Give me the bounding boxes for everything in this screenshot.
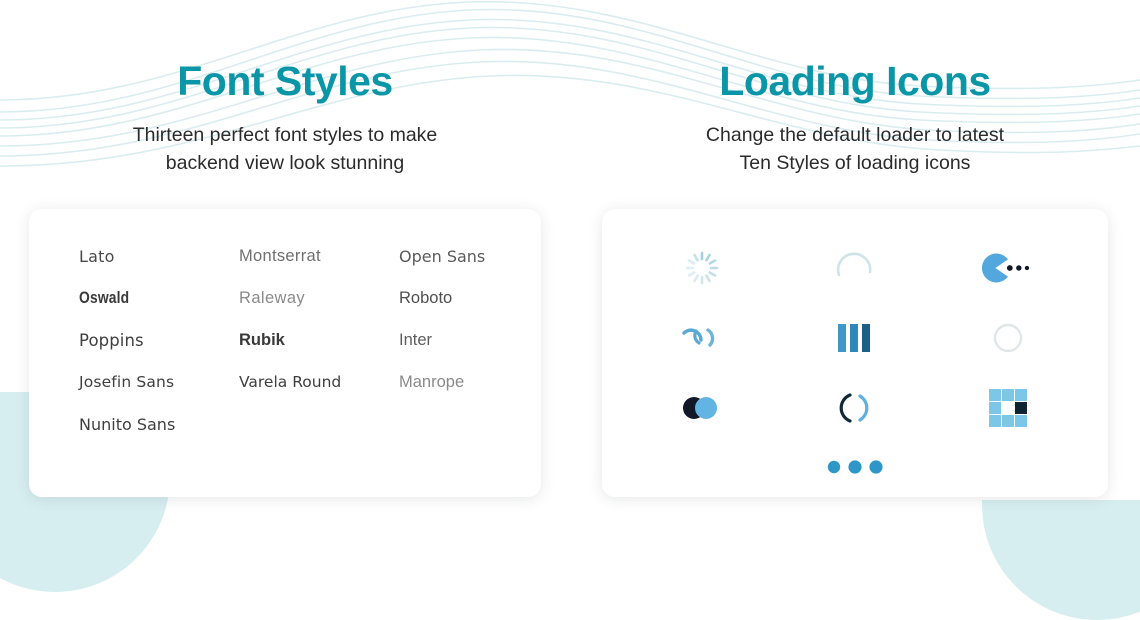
loader-option-8[interactable] xyxy=(827,380,883,436)
font-styles-subtitle: Thirteen perfect font styles to make bac… xyxy=(133,105,438,177)
loading-icons-title: Loading Icons xyxy=(719,0,990,105)
font-item-raleway[interactable]: Raleway xyxy=(239,289,399,308)
loader-option-7[interactable] xyxy=(674,380,730,436)
font-styles-card: Lato Montserrat Open Sans Oswald Raleway… xyxy=(29,209,541,497)
spinner-facing-arcs-icon xyxy=(835,388,875,428)
font-styles-subtitle-line2: backend view look stunning xyxy=(166,152,405,174)
loading-icons-card xyxy=(602,209,1108,497)
loader-option-1[interactable] xyxy=(674,240,730,296)
font-styles-section: Font Styles Thirteen perfect font styles… xyxy=(0,0,570,497)
font-item-poppins[interactable]: Poppins xyxy=(79,331,239,350)
font-item-open-sans[interactable]: Open Sans xyxy=(399,247,491,266)
loading-icons-subtitle-line2: Ten Styles of loading icons xyxy=(740,152,971,174)
font-item-roboto[interactable]: Roboto xyxy=(399,289,491,308)
loader-icon-grid xyxy=(626,233,1084,443)
decor-blob-right xyxy=(982,500,1140,620)
font-item-rubik[interactable]: Rubik xyxy=(239,331,399,350)
font-item-varela-round[interactable]: Varela Round xyxy=(239,373,399,391)
loading-icons-subtitle: Change the default loader to latest Ten … xyxy=(706,105,1004,177)
font-item-inter[interactable]: Inter xyxy=(399,331,491,350)
spinner-circle-outline-icon xyxy=(991,321,1025,355)
loader-option-9[interactable] xyxy=(980,380,1036,436)
font-item-josefin-sans[interactable]: Josefin Sans xyxy=(79,373,239,391)
spinner-three-dots-icon xyxy=(825,457,885,477)
font-styles-title: Font Styles xyxy=(177,0,392,105)
loader-option-6[interactable] xyxy=(980,310,1036,366)
loader-option-4[interactable] xyxy=(674,310,730,366)
spinner-double-crescent-icon xyxy=(679,321,725,355)
font-styles-subtitle-line1: Thirteen perfect font styles to make xyxy=(133,124,438,146)
spinner-radial-dashes-icon xyxy=(682,248,722,288)
spinner-pacman-dots-icon xyxy=(980,251,1036,285)
font-item-lato[interactable]: Lato xyxy=(79,247,239,266)
font-list-grid: Lato Montserrat Open Sans Oswald Raleway… xyxy=(79,247,491,434)
spinner-three-bars-icon xyxy=(835,321,875,355)
spinner-grid-squares-icon xyxy=(988,388,1028,428)
loading-icons-subtitle-line1: Change the default loader to latest xyxy=(706,124,1004,146)
loader-option-10[interactable] xyxy=(626,443,1084,491)
font-item-oswald[interactable]: Oswald xyxy=(79,289,213,308)
loader-option-5[interactable] xyxy=(827,310,883,366)
font-item-nunito-sans[interactable]: Nunito Sans xyxy=(79,415,239,434)
loader-option-2[interactable] xyxy=(827,240,883,296)
font-item-montserrat[interactable]: Montserrat xyxy=(239,247,399,266)
loader-option-3[interactable] xyxy=(980,240,1036,296)
spinner-arc-ring-icon xyxy=(832,245,878,291)
font-item-manrope[interactable]: Manrope xyxy=(399,373,491,392)
spinner-two-circles-icon xyxy=(678,393,726,423)
page-columns: Font Styles Thirteen perfect font styles… xyxy=(0,0,1140,497)
loading-icons-section: Loading Icons Change the default loader … xyxy=(570,0,1140,497)
